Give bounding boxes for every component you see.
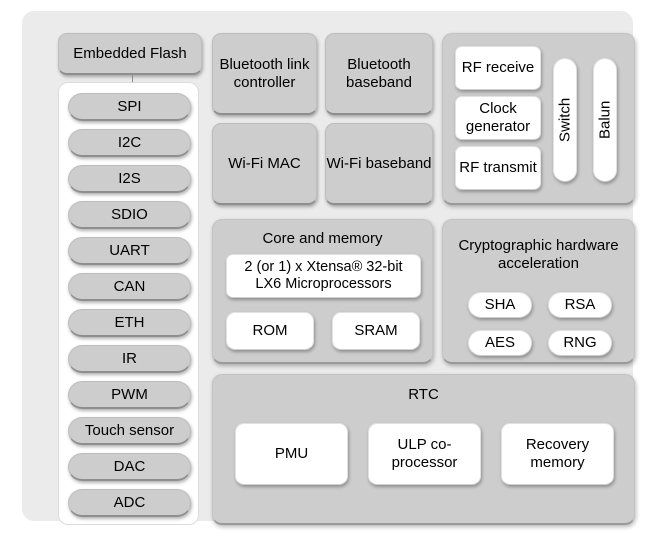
crypto-label: SHA xyxy=(485,296,516,314)
rom-block: ROM xyxy=(226,312,314,350)
crypto-rsa-block: RSA xyxy=(548,292,612,318)
ulp-coprocessor-label: ULP co-processor xyxy=(369,436,480,471)
peripheral-touch-sensor: Touch sensor xyxy=(68,417,191,445)
peripheral-label: I2C xyxy=(118,134,141,152)
peripheral-label: CAN xyxy=(114,278,146,296)
peripheral-ir: IR xyxy=(68,345,191,373)
peripheral-can: CAN xyxy=(68,273,191,301)
peripheral-label: Touch sensor xyxy=(85,422,174,440)
crypto-title: Cryptographic hardware acceleration xyxy=(443,237,634,272)
recovery-memory-block: Recovery memory xyxy=(501,423,614,485)
peripheral-label: DAC xyxy=(114,458,146,476)
crypto-rng-block: RNG xyxy=(548,330,612,356)
peripheral-dac: DAC xyxy=(68,453,191,481)
cpu-block: 2 (or 1) x Xtensa® 32-bit LX6 Microproce… xyxy=(226,254,421,298)
crypto-label: AES xyxy=(485,334,515,352)
core-and-memory-panel: Core and memory 2 (or 1) x Xtensa® 32-bi… xyxy=(212,219,433,364)
peripheral-eth: ETH xyxy=(68,309,191,337)
crypto-aes-block: AES xyxy=(468,330,532,356)
peripheral-i2s: I2S xyxy=(68,165,191,193)
rf-transmit-block: RF transmit xyxy=(455,146,541,190)
crypto-sha-block: SHA xyxy=(468,292,532,318)
peripheral-label: UART xyxy=(109,242,150,260)
rf-switch-block: Switch xyxy=(553,58,577,182)
peripheral-spi: SPI xyxy=(68,93,191,121)
wifi-baseband-block: Wi-Fi baseband xyxy=(325,123,433,205)
sram-block: SRAM xyxy=(332,312,420,350)
rtc-panel: RTC PMU ULP co-processor Recovery memory xyxy=(212,374,635,525)
rf-balun-block: Balun xyxy=(593,58,617,182)
rf-switch-label: Switch xyxy=(556,98,574,142)
recovery-memory-label: Recovery memory xyxy=(502,436,613,471)
peripheral-adc: ADC xyxy=(68,489,191,517)
peripheral-label: ADC xyxy=(114,494,146,512)
core-and-memory-title: Core and memory xyxy=(213,230,432,248)
rf-receive-label: RF receive xyxy=(462,59,535,77)
crypto-label: RSA xyxy=(565,296,596,314)
bluetooth-baseband-label: Bluetooth baseband xyxy=(326,56,432,91)
rf-receive-block: RF receive xyxy=(455,46,541,90)
embedded-flash-label: Embedded Flash xyxy=(73,45,186,63)
sram-label: SRAM xyxy=(354,322,397,340)
peripheral-pwm: PWM xyxy=(68,381,191,409)
clock-generator-label: Clock generator xyxy=(456,100,540,135)
rf-balun-label: Balun xyxy=(596,101,614,139)
rf-panel: RF receive Clock generator RF transmit S… xyxy=(442,33,635,205)
clock-generator-block: Clock generator xyxy=(455,96,541,140)
peripheral-label: PWM xyxy=(111,386,148,404)
bluetooth-baseband-block: Bluetooth baseband xyxy=(325,33,433,115)
rom-label: ROM xyxy=(253,322,288,340)
wifi-mac-block: Wi-Fi MAC xyxy=(212,123,317,205)
esp32-block-diagram: Embedded Flash SPI I2C I2S SDIO UART CAN xyxy=(0,0,655,533)
pmu-block: PMU xyxy=(235,423,348,485)
cpu-label: 2 (or 1) x Xtensa® 32-bit LX6 Microproce… xyxy=(231,259,416,293)
bluetooth-link-controller-block: Bluetooth link controller xyxy=(212,33,317,115)
crypto-label: RNG xyxy=(563,334,596,352)
wifi-baseband-label: Wi-Fi baseband xyxy=(326,155,431,173)
crypto-panel: Cryptographic hardware acceleration SHA … xyxy=(442,219,635,364)
wifi-mac-label: Wi-Fi MAC xyxy=(228,155,300,173)
rtc-title: RTC xyxy=(213,386,634,404)
peripherals-panel: SPI I2C I2S SDIO UART CAN ETH IR xyxy=(58,82,199,525)
ulp-coprocessor-block: ULP co-processor xyxy=(368,423,481,485)
peripheral-label: SPI xyxy=(117,98,141,116)
peripheral-sdio: SDIO xyxy=(68,201,191,229)
peripheral-uart: UART xyxy=(68,237,191,265)
peripheral-label: SDIO xyxy=(111,206,148,224)
bluetooth-link-controller-label: Bluetooth link controller xyxy=(213,56,316,91)
peripheral-label: ETH xyxy=(115,314,145,332)
chip-outer-container: Embedded Flash SPI I2C I2S SDIO UART CAN xyxy=(22,11,633,521)
embedded-flash-block: Embedded Flash xyxy=(58,33,202,75)
peripheral-label: I2S xyxy=(118,170,141,188)
peripheral-i2c: I2C xyxy=(68,129,191,157)
pmu-label: PMU xyxy=(275,445,308,463)
peripheral-label: IR xyxy=(122,350,137,368)
rf-transmit-label: RF transmit xyxy=(459,159,537,177)
